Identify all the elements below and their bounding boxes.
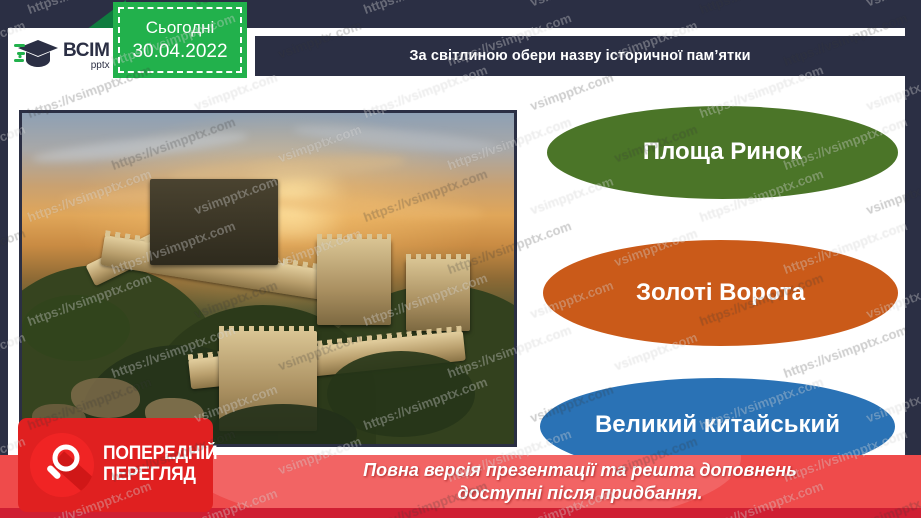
cloud-streak: [292, 121, 499, 155]
watchtower: [406, 259, 470, 332]
foliage: [22, 295, 130, 361]
watermark-text: vsimpptx.com: [864, 0, 921, 9]
preview-badge[interactable]: ПОПЕРЕДНІЙ ПЕРЕГЛЯД: [18, 418, 213, 512]
answer-option-1[interactable]: Площа Ринок: [547, 106, 898, 199]
battlement: [317, 234, 391, 240]
historical-landmark-photo[interactable]: [19, 110, 517, 447]
answer-option-1-label: Площа Ринок: [643, 138, 802, 166]
watermark-text: https://vsimpptx.com: [361, 0, 489, 17]
brand-name: ВСІМ: [63, 41, 110, 60]
answer-option-2[interactable]: Золоті Ворота: [543, 240, 898, 346]
preview-badge-text: ПОПЕРЕДНІЙ ПЕРЕГЛЯД: [103, 444, 217, 485]
battlement: [219, 326, 317, 332]
today-label: Сьогодні: [146, 18, 215, 38]
preview-badge-line-2: ПЕРЕГЛЯД: [103, 465, 217, 486]
page-title: За світлиною обери назву історичної пам’…: [409, 48, 750, 64]
slide-header-bar: За світлиною обери назву історичної пам’…: [255, 36, 905, 76]
battlement: [406, 254, 470, 260]
cloud-streak: [32, 128, 249, 167]
promo-line-2: доступні після придбання.: [255, 482, 905, 505]
watermark-text: vsimpptx.com: [528, 0, 615, 9]
promo-line-1: Повна версія презентації та решта доповн…: [255, 459, 905, 482]
watermark-text: https://vsimpptx.com: [697, 0, 825, 17]
promo-message: Повна версія презентації та решта доповн…: [255, 459, 905, 505]
brand-wordmark: ВСІМ pptx: [63, 41, 110, 71]
brand-logo[interactable]: ВСІМ pptx: [8, 28, 118, 83]
today-date-badge: Сьогодні 30.04.2022: [113, 2, 247, 78]
magnifier-icon: [30, 433, 94, 497]
today-date: 30.04.2022: [132, 41, 227, 63]
preview-badge-line-1: ПОПЕРЕДНІЙ: [103, 444, 217, 465]
answer-option-2-label: Золоті Ворота: [636, 279, 805, 307]
watchtower: [317, 239, 391, 325]
graduation-cap-icon: [14, 36, 60, 75]
watchtower: [150, 179, 278, 265]
answer-option-3-label: Великий китайський: [595, 411, 840, 439]
brand-suffix: pptx: [63, 61, 110, 71]
presentation-slide: За світлиною обери назву історичної пам’…: [0, 0, 921, 518]
magnifier-glyph: [42, 443, 84, 492]
photo-image: [22, 113, 514, 444]
